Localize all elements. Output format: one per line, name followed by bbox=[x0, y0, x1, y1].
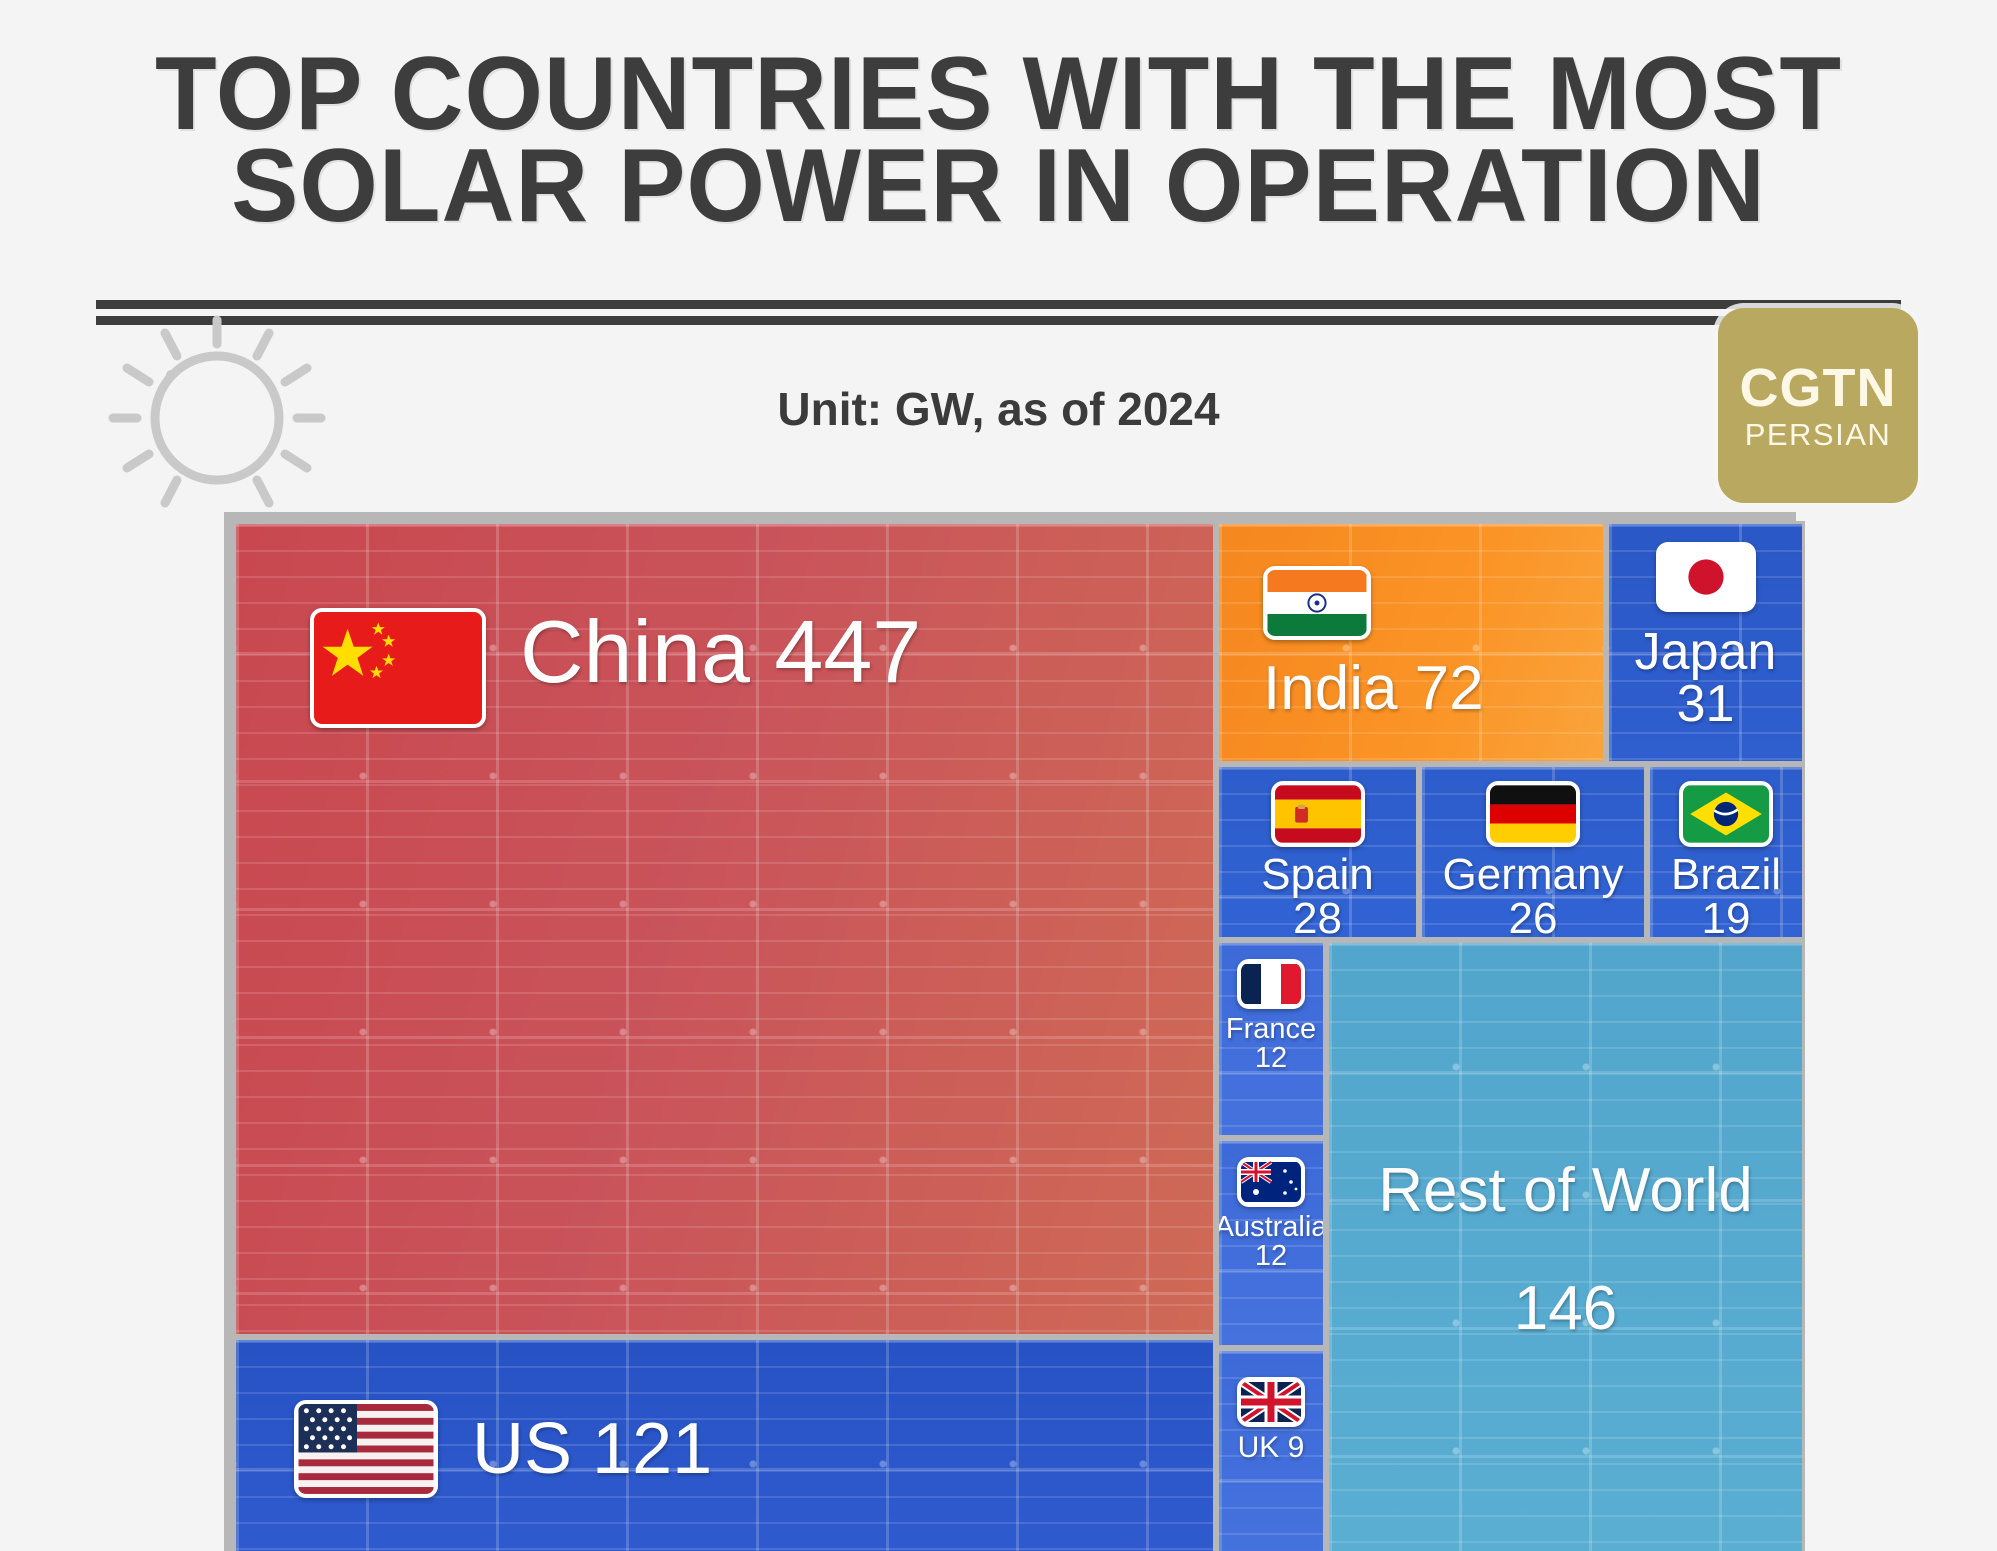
cgtn-logo[interactable]: CGTN PERSIAN bbox=[1718, 308, 1918, 503]
treemap-cell-india[interactable]: India 72 bbox=[1216, 521, 1606, 764]
flag-brazil-icon bbox=[1679, 781, 1773, 847]
treemap-cell-france[interactable]: France 12 bbox=[1216, 940, 1326, 1138]
flag-japan-icon bbox=[1656, 542, 1756, 612]
treemap-value-brazil: 19 bbox=[1671, 897, 1781, 940]
treemap-cell-us[interactable]: US 121 bbox=[233, 1337, 1216, 1551]
flag-china-icon bbox=[310, 608, 486, 728]
flag-france-icon bbox=[1237, 959, 1305, 1009]
treemap-cell-spain[interactable]: Spain 28 bbox=[1216, 764, 1419, 940]
treemap-country-spain: Spain bbox=[1261, 853, 1374, 897]
flag-germany-icon bbox=[1486, 781, 1580, 847]
treemap-country-france: France bbox=[1226, 1015, 1316, 1044]
logo-main-text: CGTN bbox=[1740, 359, 1897, 417]
header-divider bbox=[96, 300, 1901, 325]
treemap-label-rest-of-world: Rest of World 146 bbox=[1378, 1132, 1752, 1368]
treemap-label-australia: Australia 12 bbox=[1216, 1213, 1326, 1271]
infographic-page: TOP COUNTRIES WITH THE MOST SOLAR POWER … bbox=[0, 0, 1997, 1551]
treemap-cell-uk[interactable]: UK 9 bbox=[1216, 1348, 1326, 1551]
title-line-1: TOP COUNTRIES WITH THE MOST bbox=[30, 48, 1967, 140]
treemap-value-japan: 31 bbox=[1635, 678, 1777, 730]
treemap-label-us: US 121 bbox=[472, 1413, 712, 1485]
treemap-value-germany: 26 bbox=[1443, 897, 1624, 940]
treemap-country-brazil: Brazil bbox=[1671, 853, 1781, 897]
page-title: TOP COUNTRIES WITH THE MOST SOLAR POWER … bbox=[0, 48, 1997, 232]
treemap-cell-china[interactable]: China 447 bbox=[233, 521, 1216, 1337]
treemap-cell-japan[interactable]: Japan 31 bbox=[1606, 521, 1805, 764]
treemap-value-rest-of-world: 146 bbox=[1378, 1250, 1752, 1368]
treemap-label-france: France 12 bbox=[1226, 1015, 1316, 1073]
treemap-label-brazil: Brazil 19 bbox=[1671, 853, 1781, 940]
logo-sub-text: PERSIAN bbox=[1745, 417, 1892, 453]
treemap-country-rest-of-world: Rest of World bbox=[1378, 1132, 1752, 1250]
flag-spain-icon bbox=[1271, 781, 1365, 847]
title-line-2: SOLAR POWER IN OPERATION bbox=[30, 140, 1967, 232]
treemap-label-china: China 447 bbox=[520, 608, 921, 696]
treemap-label-uk: UK 9 bbox=[1238, 1433, 1305, 1463]
treemap-value-france: 12 bbox=[1226, 1044, 1316, 1073]
treemap-value-australia: 12 bbox=[1216, 1242, 1326, 1271]
treemap-cell-rest-of-world[interactable]: Rest of World 146 bbox=[1326, 940, 1805, 1551]
flag-uk-icon bbox=[1237, 1377, 1305, 1427]
divider-line-bottom bbox=[96, 316, 1901, 325]
treemap-country-germany: Germany bbox=[1443, 853, 1624, 897]
solar-treemap-chart: China 447 bbox=[224, 512, 1796, 1551]
divider-gap bbox=[96, 309, 1901, 316]
treemap-cell-germany[interactable]: Germany 26 bbox=[1419, 764, 1647, 940]
treemap-label-germany: Germany 26 bbox=[1443, 853, 1624, 940]
treemap-country-australia: Australia bbox=[1216, 1213, 1326, 1242]
treemap-label-japan: Japan 31 bbox=[1635, 626, 1777, 730]
flag-australia-icon bbox=[1237, 1157, 1305, 1207]
treemap-cell-brazil[interactable]: Brazil 19 bbox=[1647, 764, 1805, 940]
divider-line-top bbox=[96, 300, 1901, 309]
treemap-cell-australia[interactable]: Australia 12 bbox=[1216, 1138, 1326, 1348]
treemap-label-spain: Spain 28 bbox=[1261, 853, 1374, 940]
treemap-label-india: India 72 bbox=[1263, 658, 1484, 720]
treemap-value-spain: 28 bbox=[1261, 897, 1374, 940]
subtitle: Unit: GW, as of 2024 bbox=[0, 382, 1997, 436]
flag-india-icon bbox=[1263, 566, 1371, 640]
flag-us-icon bbox=[294, 1400, 438, 1498]
treemap-country-japan: Japan bbox=[1635, 626, 1777, 678]
